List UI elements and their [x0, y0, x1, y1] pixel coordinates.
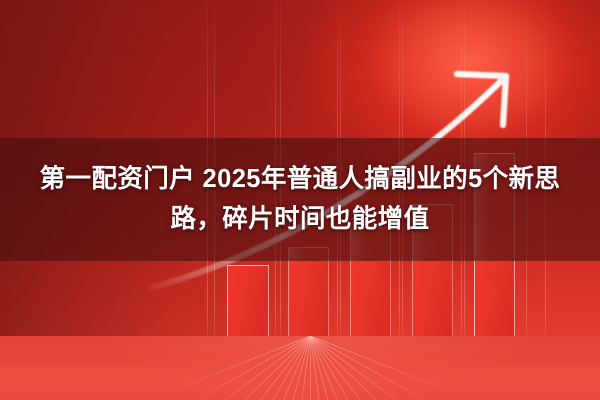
hero-banner: 第一配资门户 2025年普通人搞副业的5个新思 路，碎片时间也能增值: [0, 0, 600, 400]
chart-bar-lit: [412, 261, 453, 337]
chart-bar-lit: [227, 265, 269, 338]
chart-bar-lit: [350, 261, 391, 337]
page-title: 第一配资门户 2025年普通人搞副业的5个新思 路，碎片时间也能增值: [0, 138, 600, 261]
floor-grid-line: [310, 336, 311, 400]
floor-horizontal-line: [0, 348, 600, 349]
page-title-line-2: 路，碎片时间也能增值: [170, 203, 429, 237]
page-title-line-1: 第一配资门户 2025年普通人搞副业的5个新思: [40, 163, 561, 197]
chart-bar-lit: [288, 261, 329, 337]
perspective-grid-floor: [0, 336, 600, 400]
floor-horizontal-line: [0, 366, 600, 367]
floor-horizontal-line: [0, 388, 600, 389]
chart-bar-lit: [474, 261, 515, 337]
